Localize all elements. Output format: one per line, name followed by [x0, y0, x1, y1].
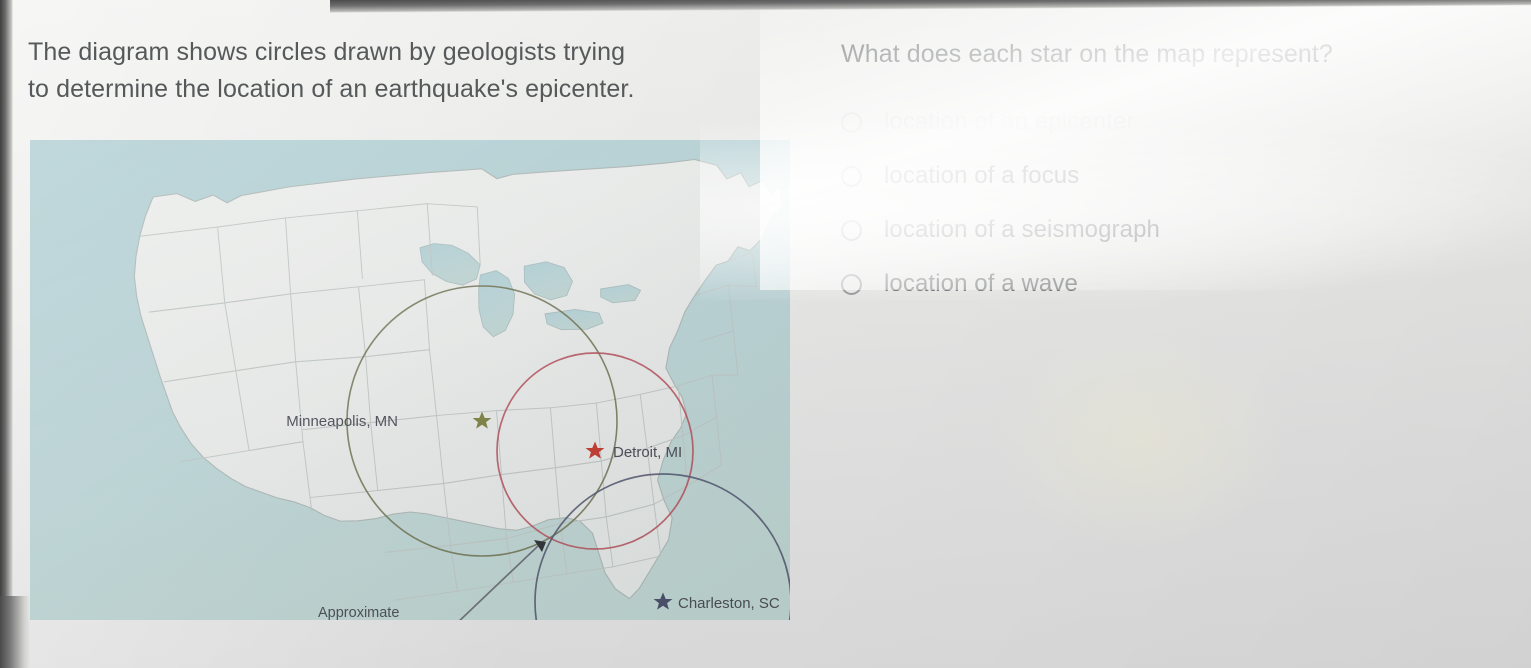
- question-text: What does each star on the map represent…: [841, 40, 1501, 69]
- question-block: What does each star on the map represent…: [841, 40, 1501, 311]
- answer-option-wave[interactable]: location of a wave: [841, 257, 1501, 311]
- answer-option-label: location of a focus: [884, 162, 1079, 190]
- label-epicenter-line-1: Approximate: [318, 605, 399, 620]
- prompt-block: The diagram shows circles drawn by geolo…: [28, 34, 798, 107]
- answer-option-epicenter[interactable]: location of an epicenter: [841, 95, 1501, 149]
- radio-button-epicenter[interactable]: [841, 112, 862, 133]
- label-detroit: Detroit, MI: [613, 444, 682, 461]
- answer-option-label: location of a seismograph: [884, 216, 1160, 244]
- answer-option-label: location of a wave: [884, 270, 1078, 298]
- answer-option-seismograph[interactable]: location of a seismograph: [841, 203, 1501, 257]
- label-minneapolis: Minneapolis, MN: [286, 413, 398, 430]
- radio-button-seismograph[interactable]: [841, 220, 862, 241]
- prompt-line-1: The diagram shows circles drawn by geolo…: [28, 34, 796, 71]
- radio-button-focus[interactable]: [841, 166, 862, 187]
- answer-option-label: location of an epicenter: [884, 108, 1135, 136]
- answer-option-focus[interactable]: location of a focus: [841, 149, 1501, 203]
- prompt-line-2: to determine the location of an earthqua…: [28, 71, 796, 108]
- map-svg: Minneapolis, MN Detroit, MI Charleston, …: [30, 140, 790, 620]
- earthquake-map-figure: Minneapolis, MN Detroit, MI Charleston, …: [30, 140, 790, 620]
- radio-button-wave[interactable]: [841, 274, 862, 295]
- label-charleston: Charleston, SC: [678, 595, 780, 612]
- answer-options-list: location of an epicenterlocation of a fo…: [841, 95, 1501, 311]
